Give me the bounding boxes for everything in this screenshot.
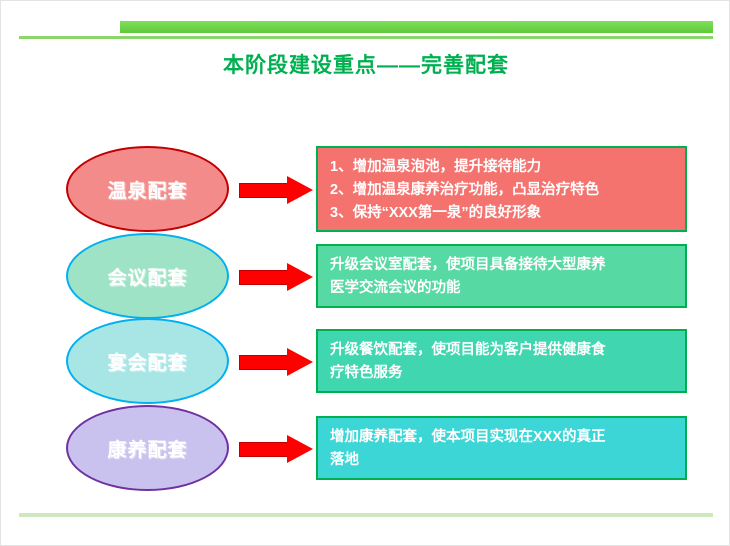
detail-textbox-3[interactable]: 增加康养配套，使本项目实现在XXX的真正 落地 xyxy=(316,416,687,480)
category-ellipse-label: 会议配套 xyxy=(107,263,187,290)
arrow-head xyxy=(287,348,313,376)
slide-canvas: 本阶段建设重点——完善配套 温泉配套 1、增加温泉泡池，提升接待能力 2、增加温… xyxy=(0,0,730,546)
content-row: 宴会配套 升级餐饮配套，使项目能为客户提供健康食 疗特色服务 xyxy=(1,318,730,404)
arrow-shaft xyxy=(239,355,289,370)
detail-line: 2、增加温泉康养治疗功能，凸显治疗特色 xyxy=(330,179,675,202)
category-ellipse-1[interactable]: 会议配套 xyxy=(66,233,229,319)
arrow-shaft xyxy=(239,183,289,198)
header-accent-bar xyxy=(120,21,713,33)
detail-line: 增加康养配套，使本项目实现在XXX的真正 xyxy=(330,426,675,449)
category-ellipse-3[interactable]: 康养配套 xyxy=(66,405,229,491)
footer-rule-line xyxy=(19,513,713,517)
arrow-right-icon-2 xyxy=(239,348,317,376)
category-ellipse-label: 温泉配套 xyxy=(107,176,187,203)
detail-line: 3、保持“XXX第一泉”的良好形象 xyxy=(330,202,675,225)
category-ellipse-2[interactable]: 宴会配套 xyxy=(66,318,229,404)
content-row: 温泉配套 1、增加温泉泡池，提升接待能力 2、增加温泉康养治疗功能，凸显治疗特色… xyxy=(1,146,730,232)
arrow-shaft xyxy=(239,270,289,285)
detail-line: 医学交流会议的功能 xyxy=(330,277,675,300)
arrow-shaft xyxy=(239,442,289,457)
detail-textbox-0[interactable]: 1、增加温泉泡池，提升接待能力 2、增加温泉康养治疗功能，凸显治疗特色 3、保持… xyxy=(316,146,687,232)
detail-line: 升级餐饮配套，使项目能为客户提供健康食 xyxy=(330,339,675,362)
arrow-head xyxy=(287,435,313,463)
detail-textbox-2[interactable]: 升级餐饮配套，使项目能为客户提供健康食 疗特色服务 xyxy=(316,329,687,393)
category-ellipse-label: 宴会配套 xyxy=(107,348,187,375)
detail-line: 疗特色服务 xyxy=(330,362,675,385)
arrow-head xyxy=(287,176,313,204)
content-row: 会议配套 升级会议室配套，使项目具备接待大型康养 医学交流会议的功能 xyxy=(1,233,730,319)
arrow-head xyxy=(287,263,313,291)
detail-line: 1、增加温泉泡池，提升接待能力 xyxy=(330,156,675,179)
arrow-right-icon-0 xyxy=(239,176,317,204)
detail-line: 升级会议室配套，使项目具备接待大型康养 xyxy=(330,254,675,277)
header-rule-line xyxy=(19,36,713,39)
detail-textbox-1[interactable]: 升级会议室配套，使项目具备接待大型康养 医学交流会议的功能 xyxy=(316,244,687,308)
detail-line: 落地 xyxy=(330,449,675,472)
category-ellipse-0[interactable]: 温泉配套 xyxy=(66,146,229,232)
arrow-right-icon-1 xyxy=(239,263,317,291)
category-ellipse-label: 康养配套 xyxy=(107,435,187,462)
arrow-right-icon-3 xyxy=(239,435,317,463)
content-row: 康养配套 增加康养配套，使本项目实现在XXX的真正 落地 xyxy=(1,405,730,491)
page-title: 本阶段建设重点——完善配套 xyxy=(1,49,730,79)
